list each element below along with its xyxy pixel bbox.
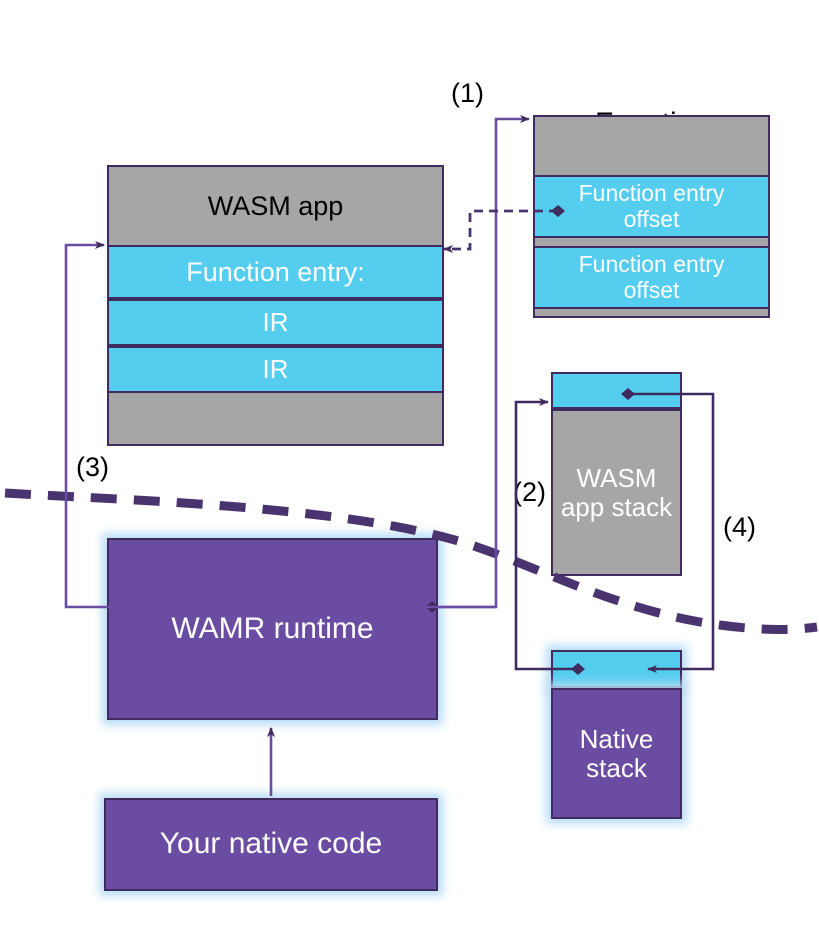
wasm-app-stack-line2: app stack [561,493,672,521]
fit-row-1-line1: Function entry [579,252,725,278]
diagram-canvas: Function Index Table (1) (2) (3) (4) Fun… [0,0,819,925]
native-stack-line1: Native [580,725,654,753]
native-stack-line2: stack [586,754,647,782]
function-index-table-row-0: Function entry offset [535,175,768,238]
wasm-app-function-entry-row: Function entry: [109,245,442,299]
wasm-app-stack-header-band [551,372,682,409]
your-native-code-block: Your native code [104,798,438,891]
step-label-1: (1) [451,78,484,109]
wasm-app-stack-body: WASM app stack [551,409,682,576]
wasm-app-stack-line1: WASM [577,464,657,492]
wasm-app-block: WASM app Function entry: IR IR [107,165,444,446]
function-index-table-row-1: Function entry offset [535,246,768,309]
function-index-table: Function entry offset Function entry off… [533,115,770,318]
fit-row-0-line1: Function entry [579,181,725,207]
fit-row-1-line2: offset [579,278,725,304]
step-label-2: (2) [513,477,546,508]
wasm-app-ir-row-1: IR [109,346,442,393]
wasm-app-ir-row-0: IR [109,299,442,346]
wasm-app-title: WASM app [109,167,442,245]
fit-row-0-line2: offset [579,207,725,233]
native-stack-header-band [551,650,682,688]
connector-1-runtime-to-index-table [432,119,529,607]
step-label-4: (4) [723,512,756,543]
native-stack-body: Native stack [551,688,682,819]
step-label-3: (3) [76,452,109,483]
wamr-runtime-block: WAMR runtime [107,538,438,720]
